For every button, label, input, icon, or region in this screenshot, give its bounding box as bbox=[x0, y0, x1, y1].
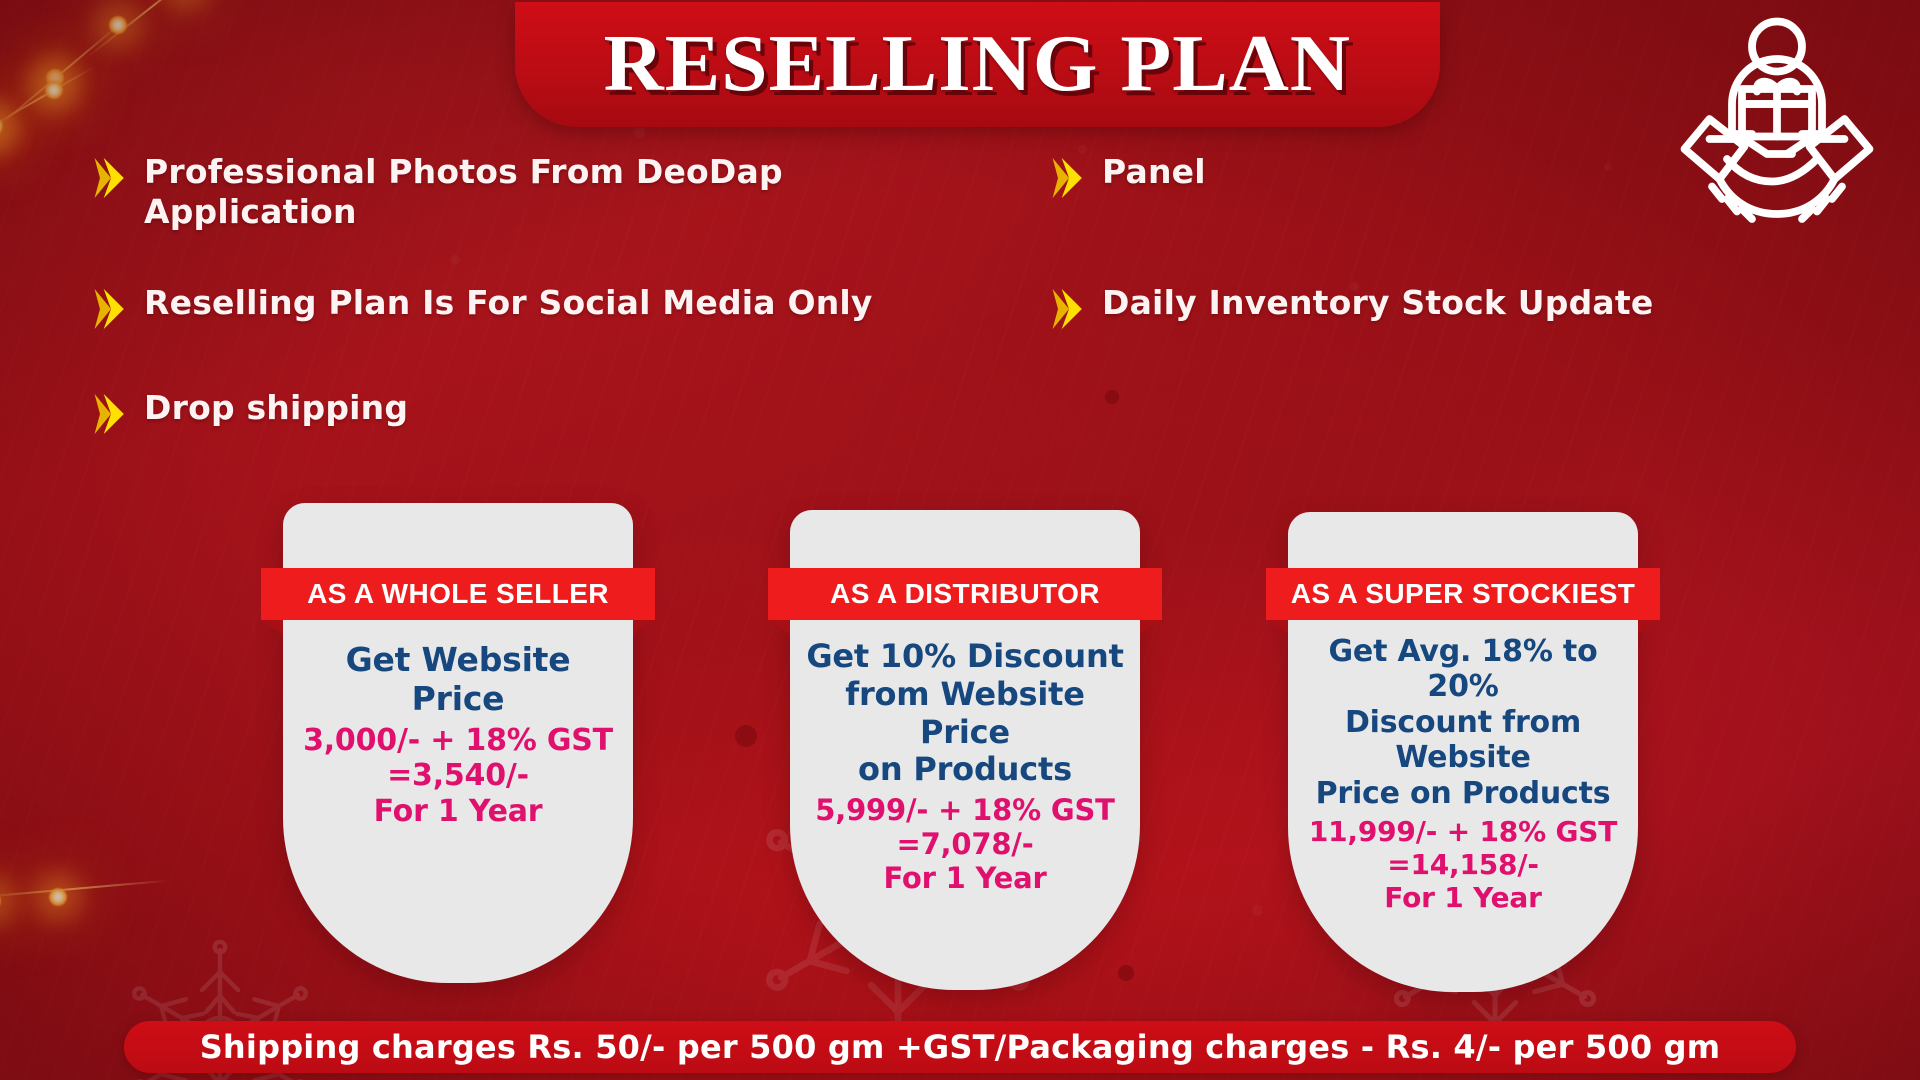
plan-ribbon-label: AS A SUPER STOCKIEST bbox=[1291, 578, 1636, 610]
plan-price: 5,999/- + 18% GST =7,078/- For 1 Year bbox=[802, 793, 1128, 896]
page-title-banner: RESELLING PLAN bbox=[515, 2, 1440, 127]
plan-price-line: For 1 Year bbox=[1300, 881, 1626, 914]
plan-heading-line: Price on Products bbox=[1300, 776, 1626, 811]
feature-item-0: Professional Photos From DeoDap Applicat… bbox=[92, 152, 852, 233]
plan-card-body: Get Avg. 18% to 20% Discount from Websit… bbox=[1288, 634, 1638, 914]
feature-label: Professional Photos From DeoDap Applicat… bbox=[144, 152, 852, 233]
plan-heading: Get 10% Discount from Website Price on P… bbox=[802, 638, 1128, 789]
plan-heading: Get Avg. 18% to 20% Discount from Websit… bbox=[1300, 634, 1626, 811]
feature-label: Drop shipping bbox=[144, 388, 408, 428]
plan-heading-line: from Website Price bbox=[802, 676, 1128, 752]
handshake-deal-icon bbox=[1652, 4, 1902, 254]
plan-price-line: =7,078/- bbox=[802, 827, 1128, 861]
plan-card-body: Get 10% Discount from Website Price on P… bbox=[790, 638, 1140, 896]
plan-price-line: 3,000/- + 18% GST bbox=[295, 723, 621, 758]
plan-heading-line: Get Avg. 18% to 20% bbox=[1300, 634, 1626, 705]
double-chevron-right-icon bbox=[92, 392, 130, 436]
double-chevron-right-icon bbox=[1050, 156, 1088, 200]
plan-heading: Get Website Price bbox=[295, 641, 621, 719]
plan-heading-line: on Products bbox=[802, 751, 1128, 789]
plan-ribbon: AS A SUPER STOCKIEST bbox=[1266, 568, 1660, 620]
plan-heading-line: Discount from bbox=[1300, 705, 1626, 740]
shipping-charges-text: Shipping charges Rs. 50/- per 500 gm +GS… bbox=[200, 1028, 1721, 1066]
plan-card-whole-seller[interactable]: AS A WHOLE SELLER Get Website Price 3,00… bbox=[283, 503, 633, 983]
plan-price-line: =14,158/- bbox=[1300, 848, 1626, 881]
page-title: RESELLING PLAN bbox=[604, 19, 1351, 110]
plan-card-body: Get Website Price 3,000/- + 18% GST =3,5… bbox=[283, 641, 633, 829]
shipping-charges-banner: Shipping charges Rs. 50/- per 500 gm +GS… bbox=[124, 1021, 1796, 1073]
double-chevron-right-icon bbox=[1050, 287, 1088, 331]
plan-card-super-stockiest[interactable]: AS A SUPER STOCKIEST Get Avg. 18% to 20%… bbox=[1288, 512, 1638, 992]
plan-price: 11,999/- + 18% GST =14,158/- For 1 Year bbox=[1300, 815, 1626, 914]
feature-item-2: Drop shipping bbox=[92, 388, 652, 436]
feature-label: Daily Inventory Stock Update bbox=[1102, 283, 1653, 323]
plan-price: 3,000/- + 18% GST =3,540/- For 1 Year bbox=[295, 723, 621, 829]
plan-heading-line: Get 10% Discount bbox=[802, 638, 1128, 676]
double-chevron-right-icon bbox=[92, 287, 130, 331]
plan-ribbon: AS A DISTRIBUTOR bbox=[768, 568, 1162, 620]
plan-ribbon-label: AS A DISTRIBUTOR bbox=[830, 578, 1100, 610]
plan-price-line: For 1 Year bbox=[295, 794, 621, 829]
plan-price-line: 11,999/- + 18% GST bbox=[1300, 815, 1626, 848]
plan-price-line: 5,999/- + 18% GST bbox=[802, 793, 1128, 827]
feature-label: Panel bbox=[1102, 152, 1206, 192]
feature-item-1: Reselling Plan Is For Social Media Only bbox=[92, 283, 922, 331]
plan-ribbon: AS A WHOLE SELLER bbox=[261, 568, 655, 620]
feature-item-4: Daily Inventory Stock Update bbox=[1050, 283, 1750, 331]
double-chevron-right-icon bbox=[92, 156, 130, 200]
feature-item-3: Panel bbox=[1050, 152, 1450, 200]
plan-price-line: =3,540/- bbox=[295, 758, 621, 793]
plan-heading-line: Website bbox=[1300, 740, 1626, 775]
plan-ribbon-label: AS A WHOLE SELLER bbox=[307, 578, 609, 610]
feature-label: Reselling Plan Is For Social Media Only bbox=[144, 283, 873, 323]
plan-price-line: For 1 Year bbox=[802, 861, 1128, 895]
plan-card-distributor[interactable]: AS A DISTRIBUTOR Get 10% Discount from W… bbox=[790, 510, 1140, 990]
plan-heading-line: Get Website Price bbox=[295, 641, 621, 719]
